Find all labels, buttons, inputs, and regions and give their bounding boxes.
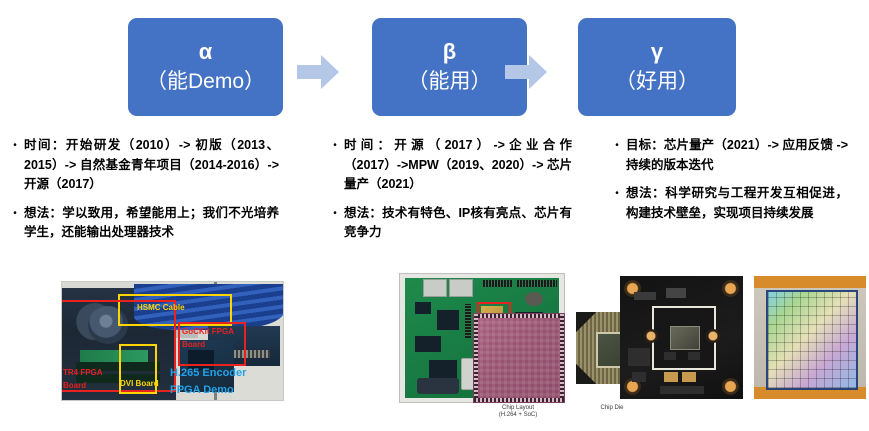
caption-chip-layout-line2: (H.264 + SoC) (468, 411, 568, 419)
photo-usb-port (449, 279, 473, 297)
photo-usb-port (423, 279, 447, 297)
photo-component (525, 292, 543, 306)
photo-die-edge (474, 314, 478, 402)
list-item: • 想法：科学研究与工程开发互相促进，构建技术壁垒，实现项目持续发展 (604, 184, 869, 223)
photo-component (415, 336, 441, 352)
bullet-dot-icon: • (612, 184, 622, 203)
bullet-dot-icon: • (10, 136, 20, 155)
bullet-column-right: • 目标：芯片量产（2021）-> 应用反馈 -> 持续的版本迭代 • 想法：科… (604, 136, 869, 232)
list-item: • 想法：技术有特色、IP核有亮点、芯片有竞争力 (320, 204, 598, 243)
photo-component (632, 372, 646, 382)
stage-greek-letter: γ (651, 37, 663, 67)
photo-header (465, 304, 471, 338)
photo-header (483, 280, 513, 287)
photo-wafer-tape-top (754, 276, 866, 288)
photo-group-right (604, 270, 869, 431)
photo-image-sensor (670, 326, 700, 350)
bullet-text: 想法：技术有特色、IP核有亮点、芯片有竞争力 (344, 204, 572, 243)
stage-flow-row: α （能Demo） β （能用） γ （好用） (0, 0, 869, 128)
stage-box-gamma[interactable]: γ （好用） (578, 18, 736, 116)
photo-chip-die-layout (474, 314, 564, 402)
bullet-column-left: • 时间：开始研发（2010）-> 初版（2013、2015）-> 自然基金青年… (0, 136, 312, 252)
stage-greek-letter: α (199, 37, 213, 67)
bullet-text: 时间：开始研发（2010）-> 初版（2013、2015）-> 自然基金青年项目… (24, 136, 279, 195)
list-item: • 时间：开源（2017）->企业合作（2017）->MPW（2019、2020… (320, 136, 598, 195)
photo-pad (682, 372, 696, 382)
photo-wafer (754, 276, 866, 399)
photo-component (429, 360, 457, 378)
list-item: • 目标：芯片量产（2021）-> 应用反馈 -> 持续的版本迭代 (604, 136, 869, 175)
stage-greek-letter: β (443, 37, 456, 67)
bullet-text: 时间：开源（2017）->企业合作（2017）->MPW（2019、2020）-… (344, 136, 572, 195)
photo-camera-module-board (620, 276, 743, 399)
stage-subtitle: （好用） (615, 67, 699, 97)
label-hsmc-cable: HSMC Cable (137, 303, 185, 312)
bullet-dot-icon: • (330, 136, 340, 155)
bullet-column-middle: • 时间：开源（2017）->企业合作（2017）->MPW（2019、2020… (320, 136, 598, 252)
photo-screw-hole (706, 329, 720, 343)
photo-die-edge (560, 314, 564, 402)
photo-strip: HSMC Cable GoCKit FPGA Board TR4 FPGA Bo… (0, 270, 869, 431)
bullet-text: 目标：芯片量产（2021）-> 应用反馈 -> 持续的版本迭代 (626, 136, 848, 175)
bullet-dot-icon: • (10, 204, 20, 223)
photo-component (664, 352, 676, 360)
photo-component (634, 292, 656, 300)
bullet-text: 想法：学以致用，希望能用上；我们不光培养学生，还能输出处理器技术 (24, 204, 279, 243)
photo-component (415, 302, 431, 314)
label-h265-encoder: H.265 Encoder (170, 367, 246, 379)
bullet-text: 想法：科学研究与工程开发互相促进，构建技术壁垒，实现项目持续发展 (626, 184, 848, 223)
photo-screw-hole (644, 329, 658, 343)
photo-header (517, 280, 557, 287)
photo-mount-hole (722, 280, 739, 297)
arrow-right-icon-2 (505, 55, 547, 89)
stage-subtitle: （能用） (408, 67, 492, 97)
label-fpga-demo: FPGA Demo (170, 384, 234, 396)
bullet-dot-icon: • (330, 204, 340, 223)
arrow-right-icon-1 (297, 55, 339, 89)
photo-component (666, 288, 686, 298)
label-tr4-board: Board (63, 381, 86, 390)
photo-fpga-demo: HSMC Cable GoCKit FPGA Board TR4 FPGA Bo… (62, 282, 283, 400)
photo-mount-hole (722, 378, 739, 395)
label-gockit-board: Board (182, 340, 205, 349)
photo-component (437, 310, 459, 330)
photo-wafer-die-grid (766, 290, 858, 390)
photo-component (628, 348, 650, 366)
photo-vga-port (417, 378, 459, 394)
stage-box-alpha[interactable]: α （能Demo） (128, 18, 283, 116)
photo-pad (664, 372, 678, 382)
label-tr4-fpga: TR4 FPGA (63, 368, 103, 377)
bullet-dot-icon: • (612, 136, 622, 155)
stage-subtitle: （能Demo） (146, 67, 265, 97)
stage-box-beta[interactable]: β （能用） (372, 18, 527, 116)
list-item: • 时间：开始研发（2010）-> 初版（2013、2015）-> 自然基金青年… (0, 136, 312, 195)
list-item: • 想法：学以致用，希望能用上；我们不光培养学生，还能输出处理器技术 (0, 204, 312, 243)
photo-component (660, 386, 704, 394)
label-gockit-fpga: GoCKit FPGA (182, 327, 234, 336)
photo-group-middle: Chip Layout (H.264 + SoC) Chip Die (320, 270, 598, 431)
label-dvi-board: DVI Board (120, 379, 159, 388)
photo-component (688, 352, 700, 360)
